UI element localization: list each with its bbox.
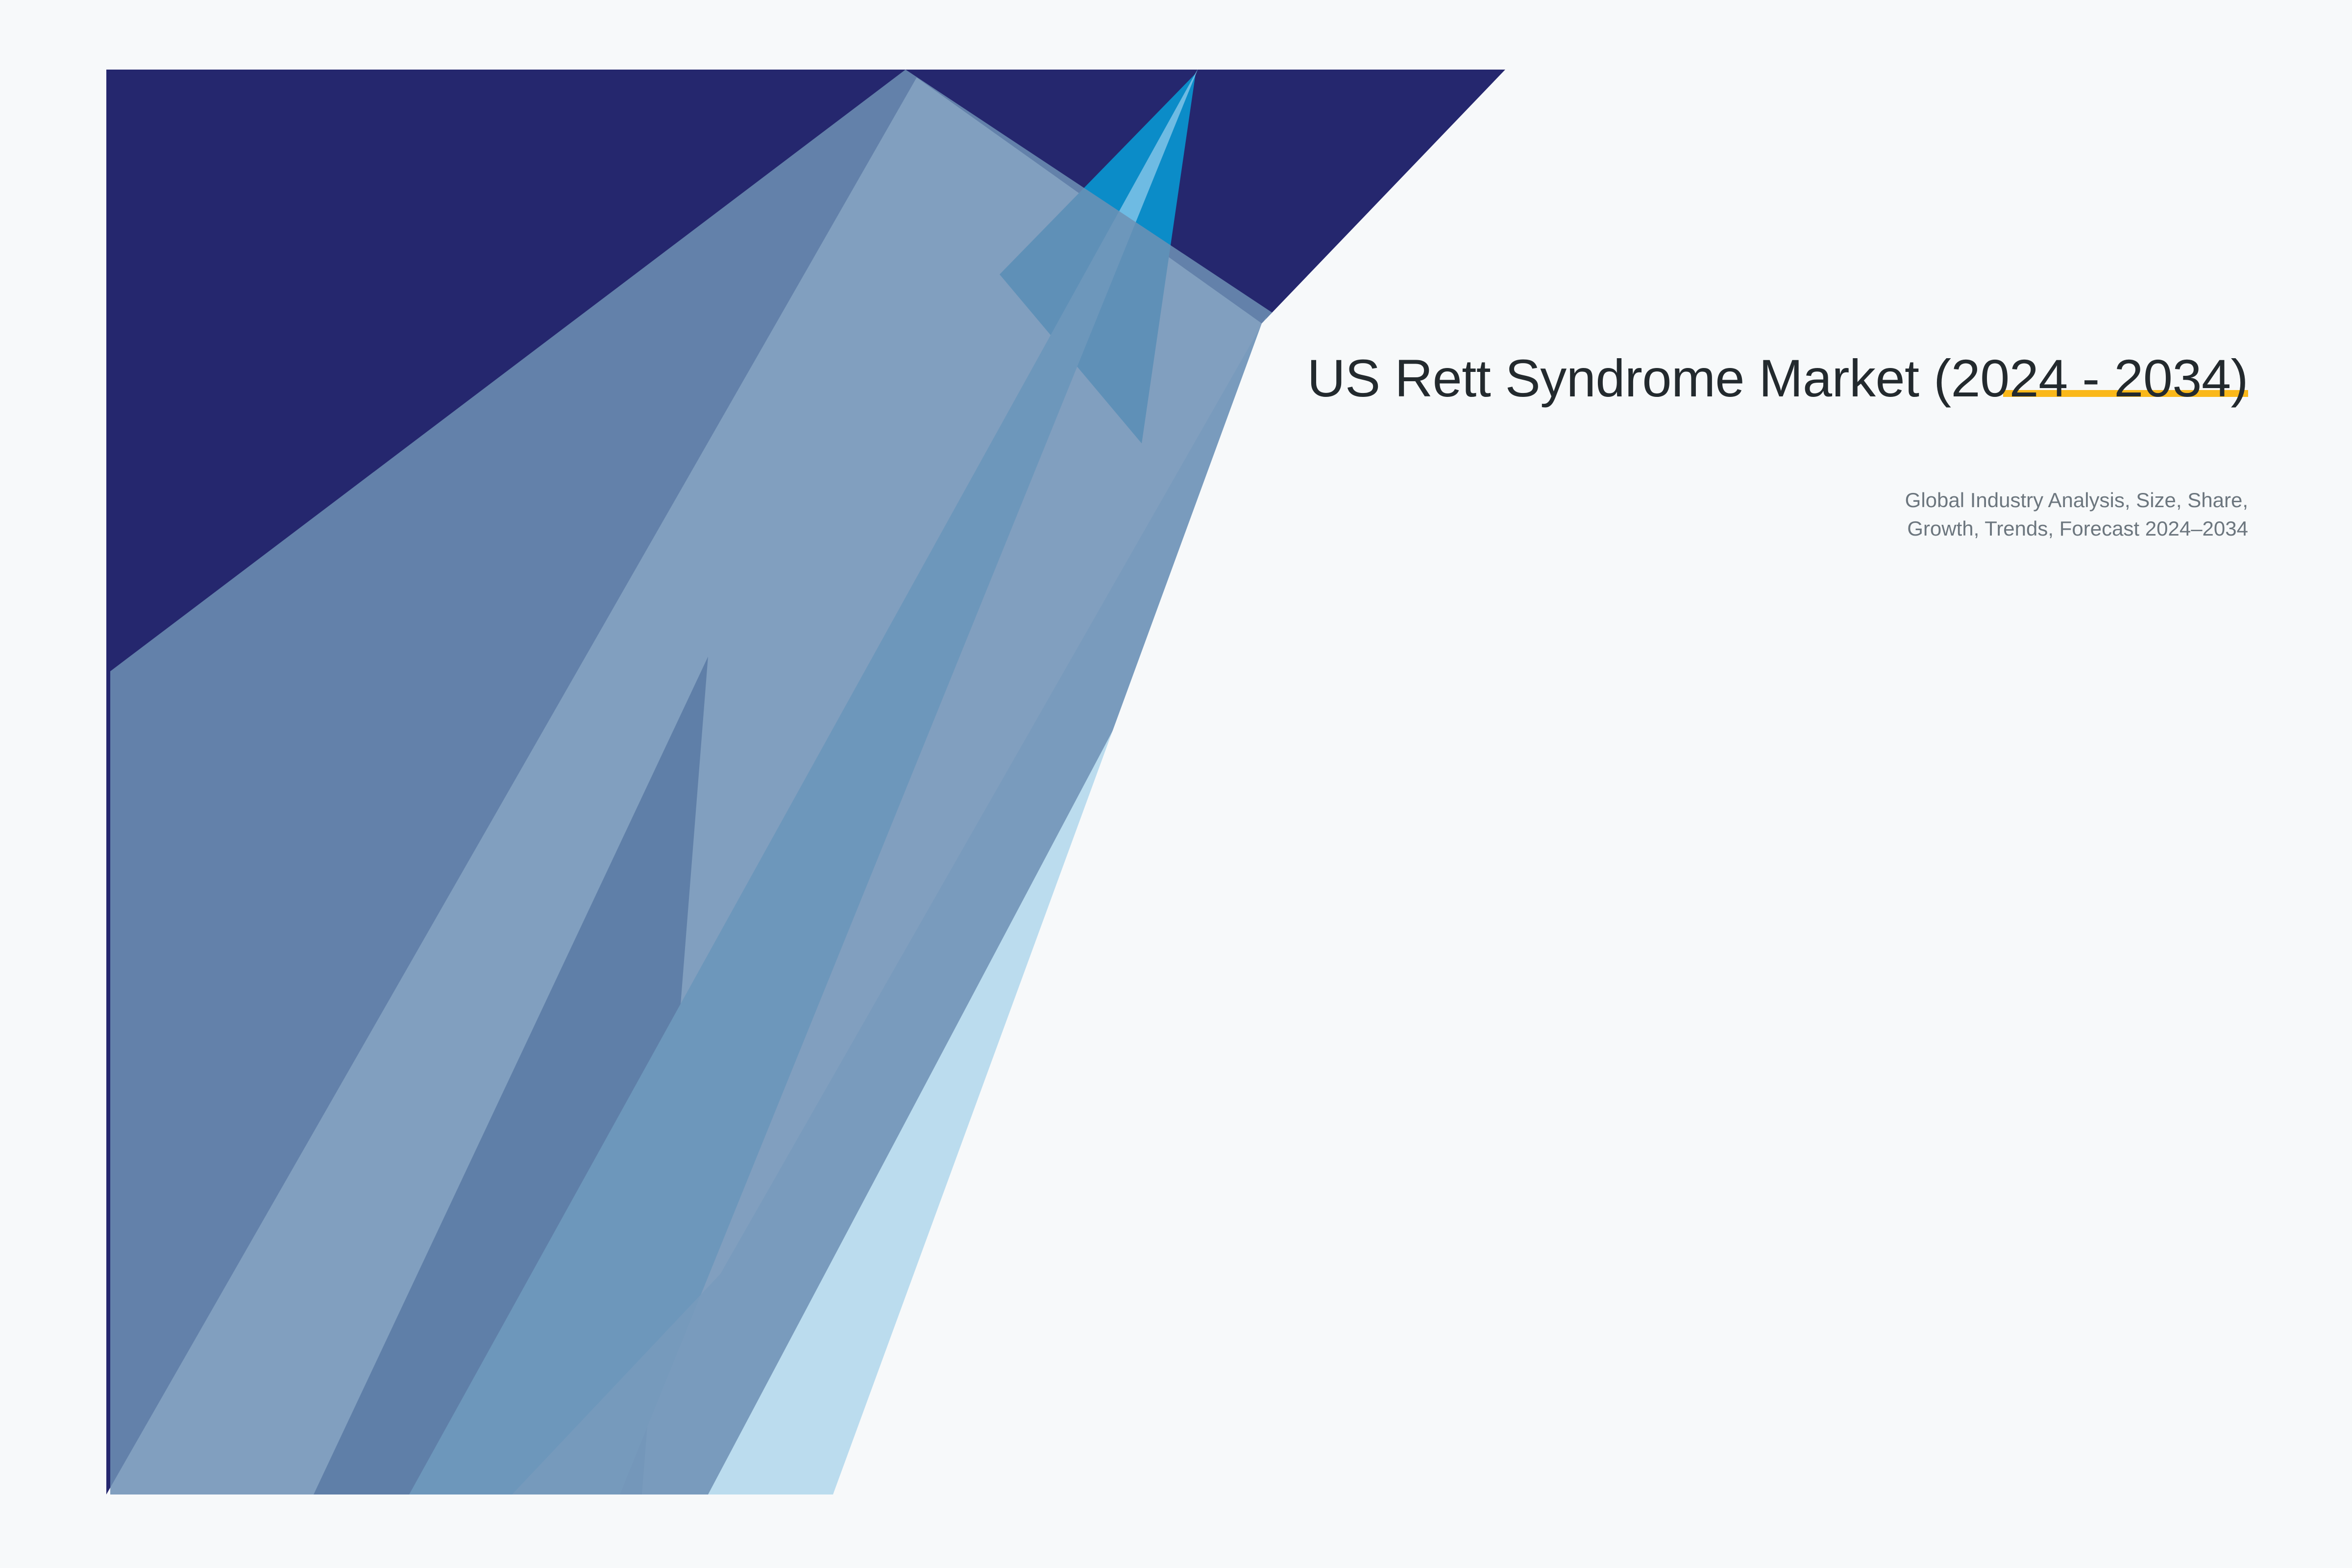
- shape-deep-navy-spike: [314, 657, 708, 1494]
- page-title: US Rett Syndrome Market (2024 - 2034): [931, 343, 2248, 414]
- shape-cyan-field: [106, 70, 921, 568]
- abstract-blue-artwork: [0, 0, 2352, 1568]
- shape-navy-top-triangle: [906, 70, 1505, 323]
- title-text-block: US Rett Syndrome Market (2024 - 2034) Gl…: [931, 343, 2248, 543]
- shape-navy-left-wedge: [106, 70, 921, 1494]
- title-slide: US Rett Syndrome Market (2024 - 2034) Gl…: [0, 0, 2352, 1568]
- page-subtitle: Global Industry Analysis, Size, Share, G…: [931, 414, 2248, 543]
- shape-sky-band: [409, 69, 1198, 1494]
- title-wrapper: US Rett Syndrome Market (2024 - 2034): [931, 343, 2248, 414]
- shape-slate-polygon: [110, 70, 1318, 1494]
